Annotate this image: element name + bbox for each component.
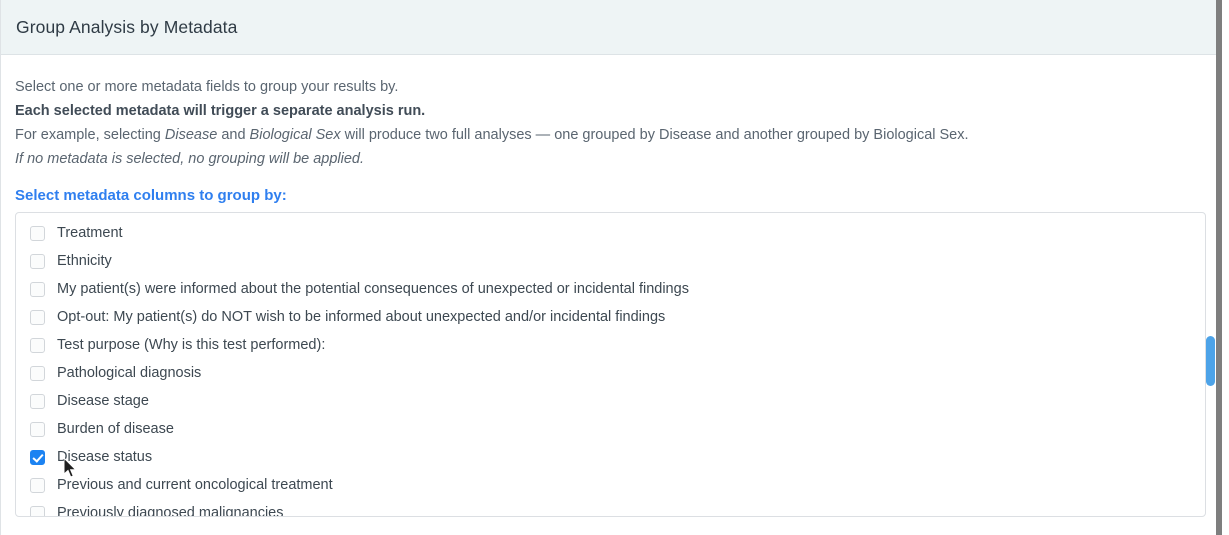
metadata-option-label: Previously diagnosed malignancies: [57, 499, 284, 517]
checkbox-unchecked-icon[interactable]: [30, 394, 45, 409]
checkbox-unchecked-icon[interactable]: [30, 478, 45, 493]
metadata-option-row[interactable]: Opt-out: My patient(s) do NOT wish to be…: [16, 303, 1205, 331]
metadata-checkbox-list[interactable]: TreatmentEthnicityMy patient(s) were inf…: [15, 212, 1206, 517]
description-line-4: If no metadata is selected, no grouping …: [15, 147, 1208, 171]
metadata-option-label: Disease status: [57, 443, 152, 471]
checkbox-unchecked-icon[interactable]: [30, 310, 45, 325]
metadata-option-row[interactable]: Previous and current oncological treatme…: [16, 471, 1205, 499]
description-line-3-post: will produce two full analyses — one gro…: [341, 127, 969, 143]
metadata-option-row[interactable]: Test purpose (Why is this test performed…: [16, 331, 1205, 359]
checkbox-unchecked-icon[interactable]: [30, 338, 45, 353]
metadata-option-label: Burden of disease: [57, 415, 174, 443]
metadata-option-row[interactable]: Ethnicity: [16, 247, 1205, 275]
metadata-option-row[interactable]: My patient(s) were informed about the po…: [16, 275, 1205, 303]
panel-body: Select one or more metadata fields to gr…: [1, 55, 1222, 517]
metadata-option-label: Previous and current oncological treatme…: [57, 471, 333, 499]
metadata-option-label: Disease stage: [57, 387, 149, 415]
group-analysis-panel: Group Analysis by Metadata Select one or…: [0, 0, 1229, 535]
metadata-option-row[interactable]: Disease stage: [16, 387, 1205, 415]
checkbox-unchecked-icon[interactable]: [30, 366, 45, 381]
metadata-option-label: Treatment: [57, 219, 123, 247]
description-emphasis-disease: Disease: [165, 127, 217, 143]
list-scrollbar-thumb[interactable]: [1206, 336, 1215, 386]
page-scrollbar-track[interactable]: [1216, 0, 1222, 535]
metadata-option-label: Ethnicity: [57, 247, 112, 275]
checkbox-unchecked-icon[interactable]: [30, 506, 45, 518]
checkbox-unchecked-icon[interactable]: [30, 282, 45, 297]
description-emphasis-biological-sex: Biological Sex: [250, 127, 341, 143]
description-line-2: Each selected metadata will trigger a se…: [15, 99, 1208, 123]
metadata-option-label: My patient(s) were informed about the po…: [57, 275, 689, 303]
metadata-option-row[interactable]: Pathological diagnosis: [16, 359, 1205, 387]
page-title: Group Analysis by Metadata: [16, 17, 237, 38]
panel-header: Group Analysis by Metadata: [1, 0, 1222, 55]
description-line-1: Select one or more metadata fields to gr…: [15, 75, 1208, 99]
metadata-option-row[interactable]: Previously diagnosed malignancies: [16, 499, 1205, 517]
description-line-3-mid: and: [217, 127, 249, 143]
checkbox-unchecked-icon[interactable]: [30, 254, 45, 269]
metadata-option-label: Opt-out: My patient(s) do NOT wish to be…: [57, 303, 665, 331]
checkbox-unchecked-icon[interactable]: [30, 226, 45, 241]
metadata-option-row[interactable]: Burden of disease: [16, 415, 1205, 443]
description-line-3-pre: For example, selecting: [15, 127, 165, 143]
metadata-option-row[interactable]: Disease status: [16, 443, 1205, 471]
metadata-option-row[interactable]: Treatment: [16, 219, 1205, 247]
metadata-option-label: Pathological diagnosis: [57, 359, 201, 387]
description-line-3: For example, selecting Disease and Biolo…: [15, 123, 1208, 147]
checkbox-unchecked-icon[interactable]: [30, 422, 45, 437]
metadata-option-label: Test purpose (Why is this test performed…: [57, 331, 325, 359]
group-by-label: Select metadata columns to group by:: [15, 187, 1208, 204]
checkbox-checked-icon[interactable]: [30, 450, 45, 465]
